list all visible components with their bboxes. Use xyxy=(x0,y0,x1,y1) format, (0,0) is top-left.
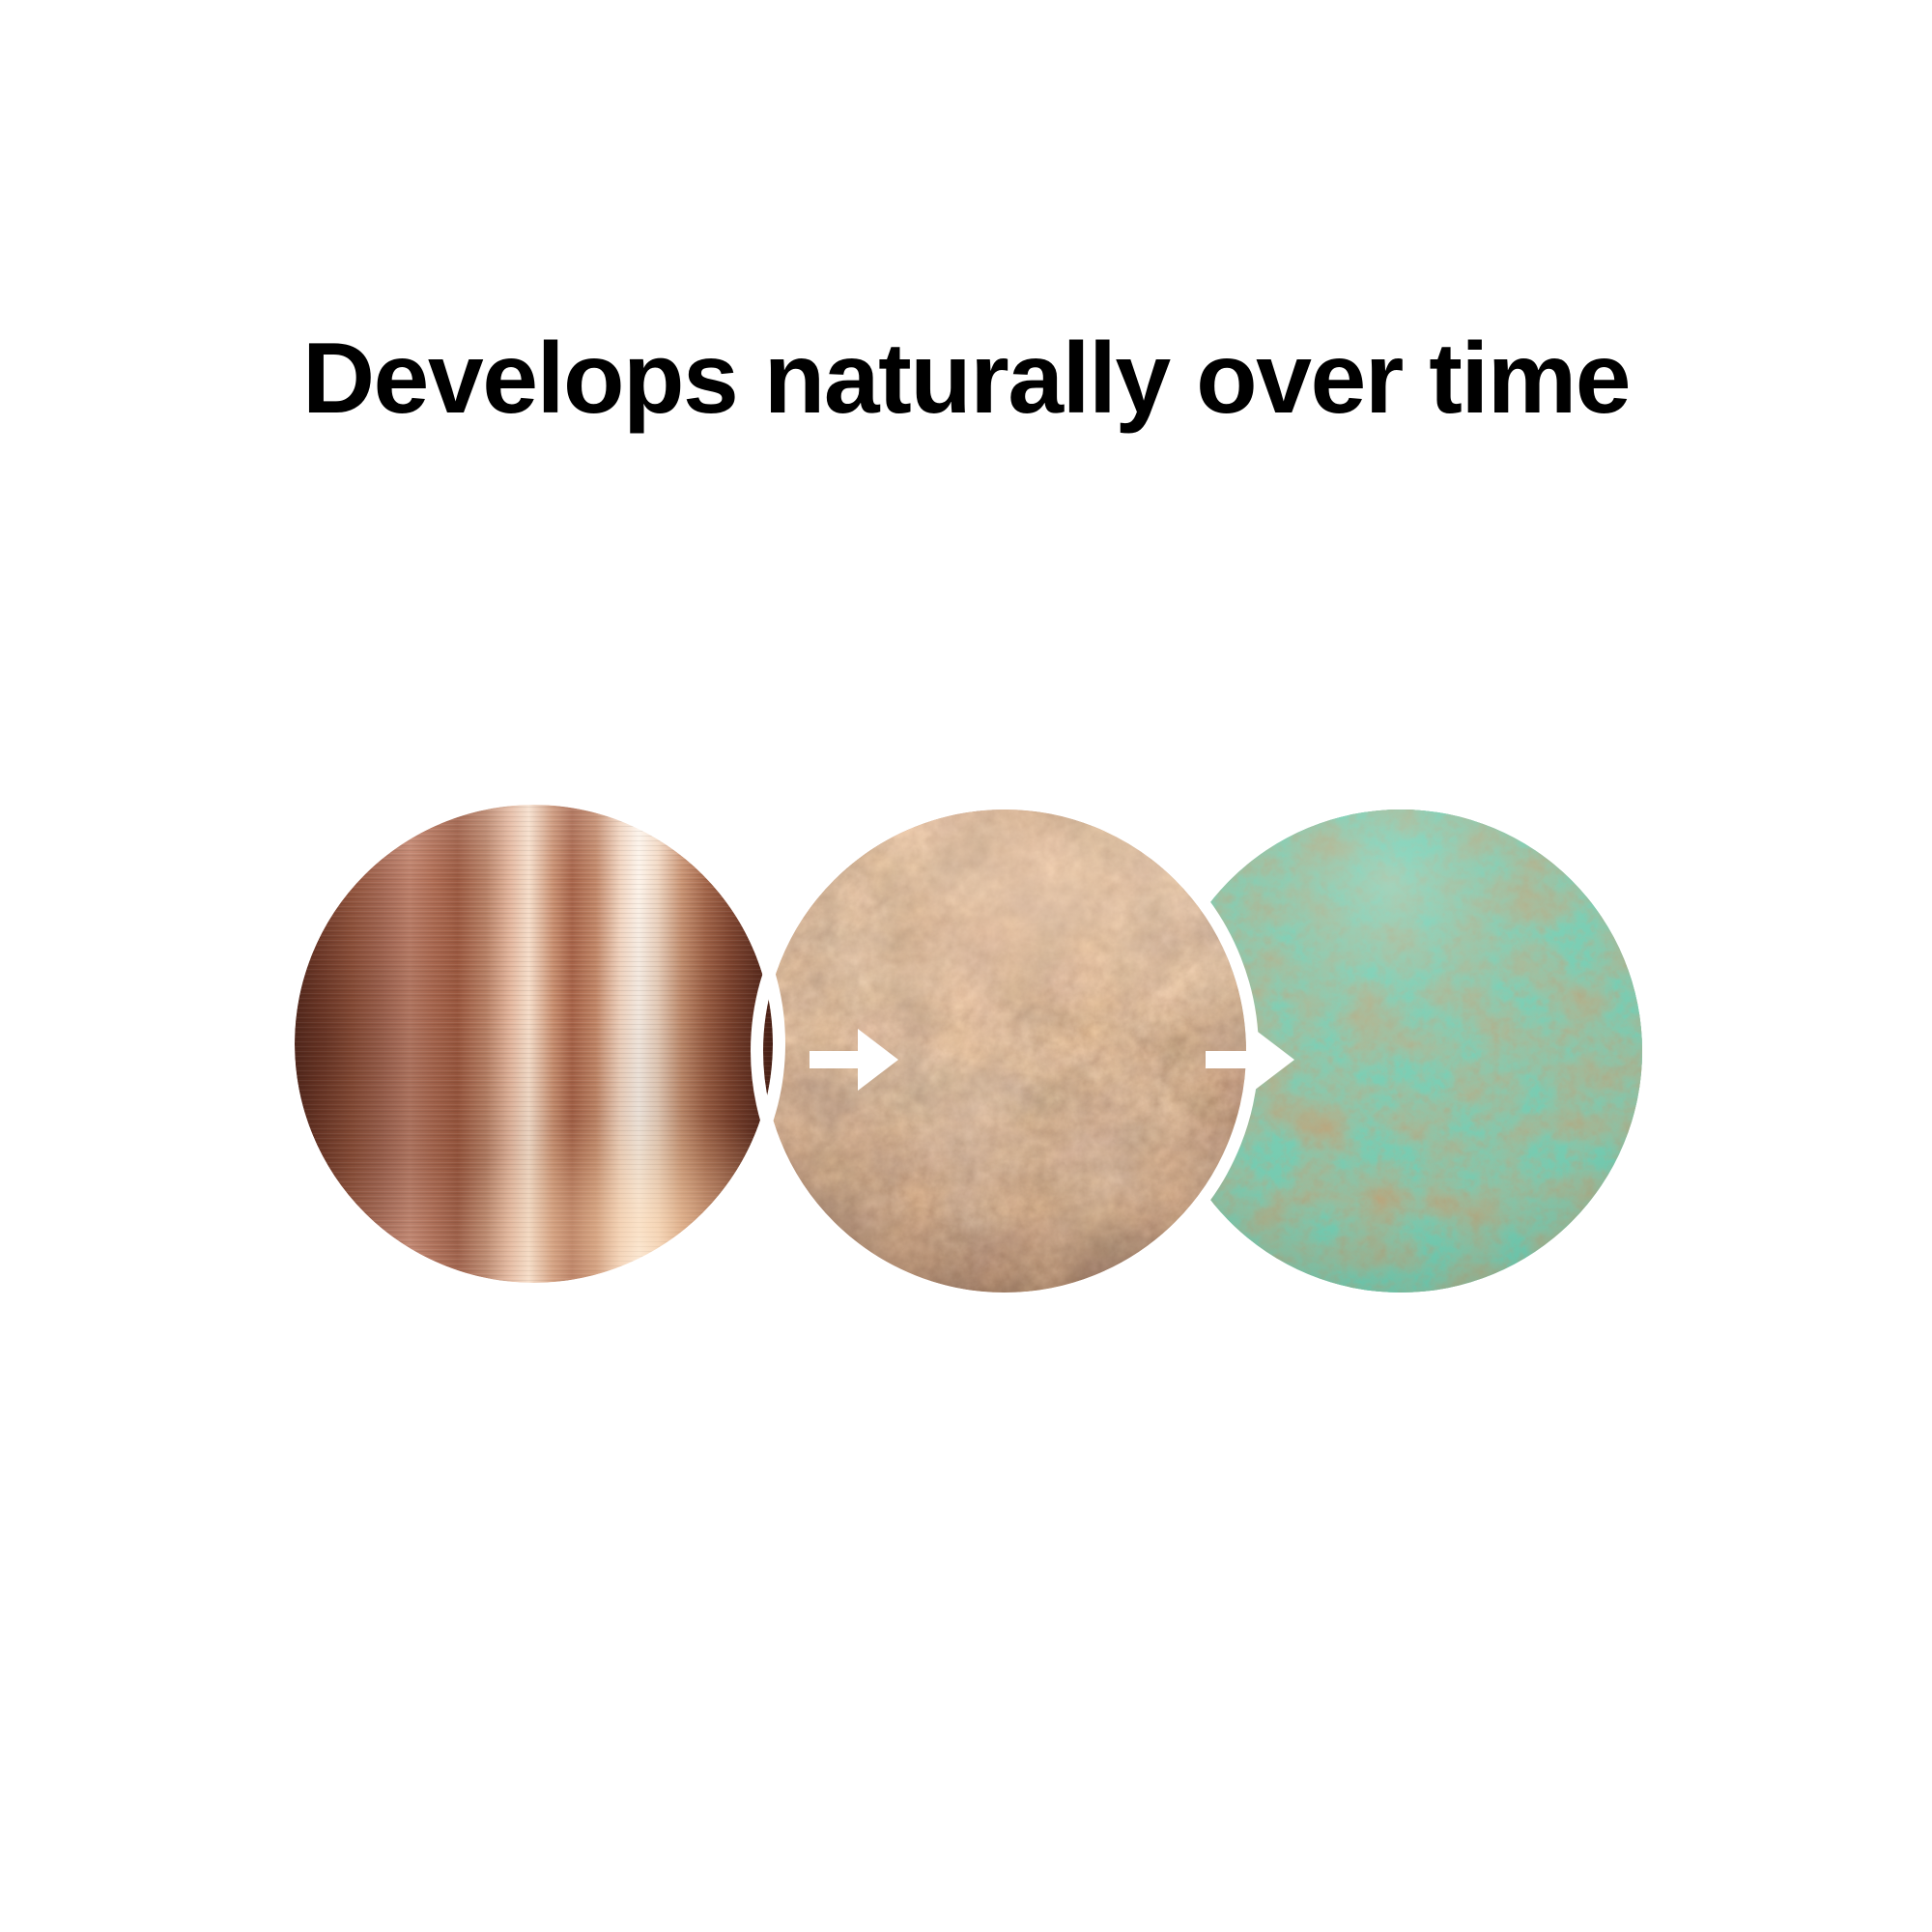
stage-separator-ring-1 xyxy=(282,792,785,1295)
poster-canvas: Develops naturally over time xyxy=(0,0,1932,1932)
arrow-right-icon xyxy=(1206,1019,1294,1100)
arrow-right-icon xyxy=(810,1019,898,1100)
copper-ageing-diagram xyxy=(0,0,1932,1932)
